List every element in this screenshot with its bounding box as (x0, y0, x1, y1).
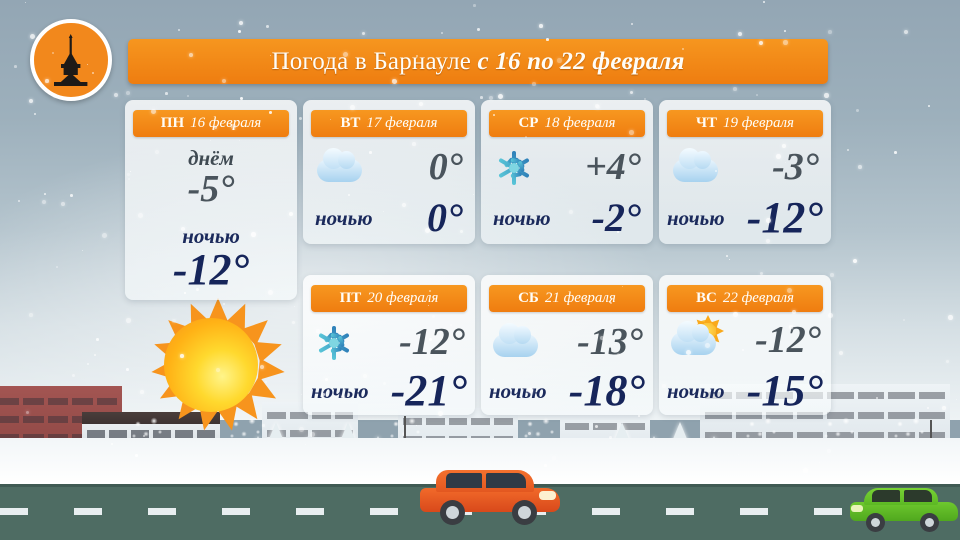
night-label: ночью (667, 379, 725, 404)
card-header: СБ 21 февраля (489, 285, 645, 312)
card-header: ВТ 17 февраля (311, 110, 467, 137)
weather-infographic: Погода в Барнауле с 16 по 22 февраля ПН … (0, 0, 960, 540)
page-title: Погода в Барнауле с 16 по 22 февраля (271, 48, 684, 76)
night-temperature: -15° (747, 369, 823, 413)
card-header: СР 18 февраля (489, 110, 645, 137)
night-label: ночью (493, 206, 551, 231)
card-date: 16 февраля (190, 115, 261, 132)
card-header: ПН 16 февраля (133, 110, 289, 137)
forecast-card-friday[interactable]: ПТ 20 февраля -12° ночью -21° (303, 275, 475, 415)
day-of-week: СР (518, 115, 538, 132)
barnaul-tower-logo[interactable] (30, 19, 112, 101)
green-sedan (850, 488, 958, 526)
day-of-week: ПТ (340, 290, 362, 307)
night-label: ночью (315, 206, 373, 231)
card-date: 20 февраля (367, 290, 438, 307)
forecast-card-thursday[interactable]: ЧТ 19 февраля -3° ночью -12° (659, 100, 831, 244)
day-temperature: -3° (772, 148, 819, 186)
snowflake-icon (493, 148, 543, 186)
cloud-icon (315, 148, 365, 186)
day-of-week: ВС (696, 290, 717, 307)
day-of-week: ЧТ (696, 115, 717, 132)
day-temperature: -12° (755, 321, 821, 359)
forecast-card-saturday[interactable]: СБ 21 февраля -13° ночью -18° (481, 275, 653, 415)
card-date: 21 февраля (545, 290, 616, 307)
title-date-range: с 16 по 22 февраля (478, 48, 685, 75)
card-date: 19 февраля (723, 115, 794, 132)
night-label: ночью (667, 206, 725, 231)
snowflake-icon (313, 323, 363, 361)
day-temperature: +4° (585, 148, 641, 186)
night-label: ночью (489, 379, 547, 404)
card-date: 18 февраля (544, 115, 615, 132)
night-temperature: -21° (391, 369, 467, 413)
card-date: 17 февраля (366, 115, 437, 132)
card-date: 22 февраля (723, 290, 794, 307)
night-temperature: 0° (427, 198, 463, 238)
day-of-week: СБ (518, 290, 539, 307)
sun-cloud-icon (669, 321, 719, 359)
day-of-week: ВТ (341, 115, 361, 132)
orange-suv (420, 472, 560, 518)
night-temperature: -12° (173, 248, 249, 292)
cloud-icon (671, 148, 721, 186)
day-temperature: -13° (577, 323, 643, 361)
day-temperature: 0° (429, 148, 463, 186)
card-header: ЧТ 19 февраля (667, 110, 823, 137)
night-temperature: -12° (747, 196, 823, 240)
day-temperature: -5° (188, 170, 235, 208)
title-prefix: Погода в Барнауле (271, 48, 471, 75)
large-sun-graphic (146, 300, 276, 430)
forecast-card-tuesday[interactable]: ВТ 17 февраля 0° ночью 0° (303, 100, 475, 244)
forecast-card-wednesday[interactable]: СР 18 февраля +4° ночью -2° (481, 100, 653, 244)
forecast-card-monday[interactable]: ПН 16 февраля днём -5° ночью -12° (125, 100, 297, 300)
night-label: ночью (311, 379, 369, 404)
night-temperature: -18° (569, 369, 645, 413)
page-title-bar: Погода в Барнауле с 16 по 22 февраля (128, 39, 828, 84)
card-header: ВС 22 февраля (667, 285, 823, 312)
forecast-card-sunday[interactable]: ВС 22 февраля -12° ночью -1 (659, 275, 831, 415)
card-header: ПТ 20 февраля (311, 285, 467, 312)
day-temperature: -12° (399, 323, 465, 361)
night-temperature: -2° (592, 198, 641, 238)
day-of-week: ПН (161, 115, 184, 132)
cloud-icon (491, 323, 541, 361)
tower-icon (48, 34, 94, 86)
